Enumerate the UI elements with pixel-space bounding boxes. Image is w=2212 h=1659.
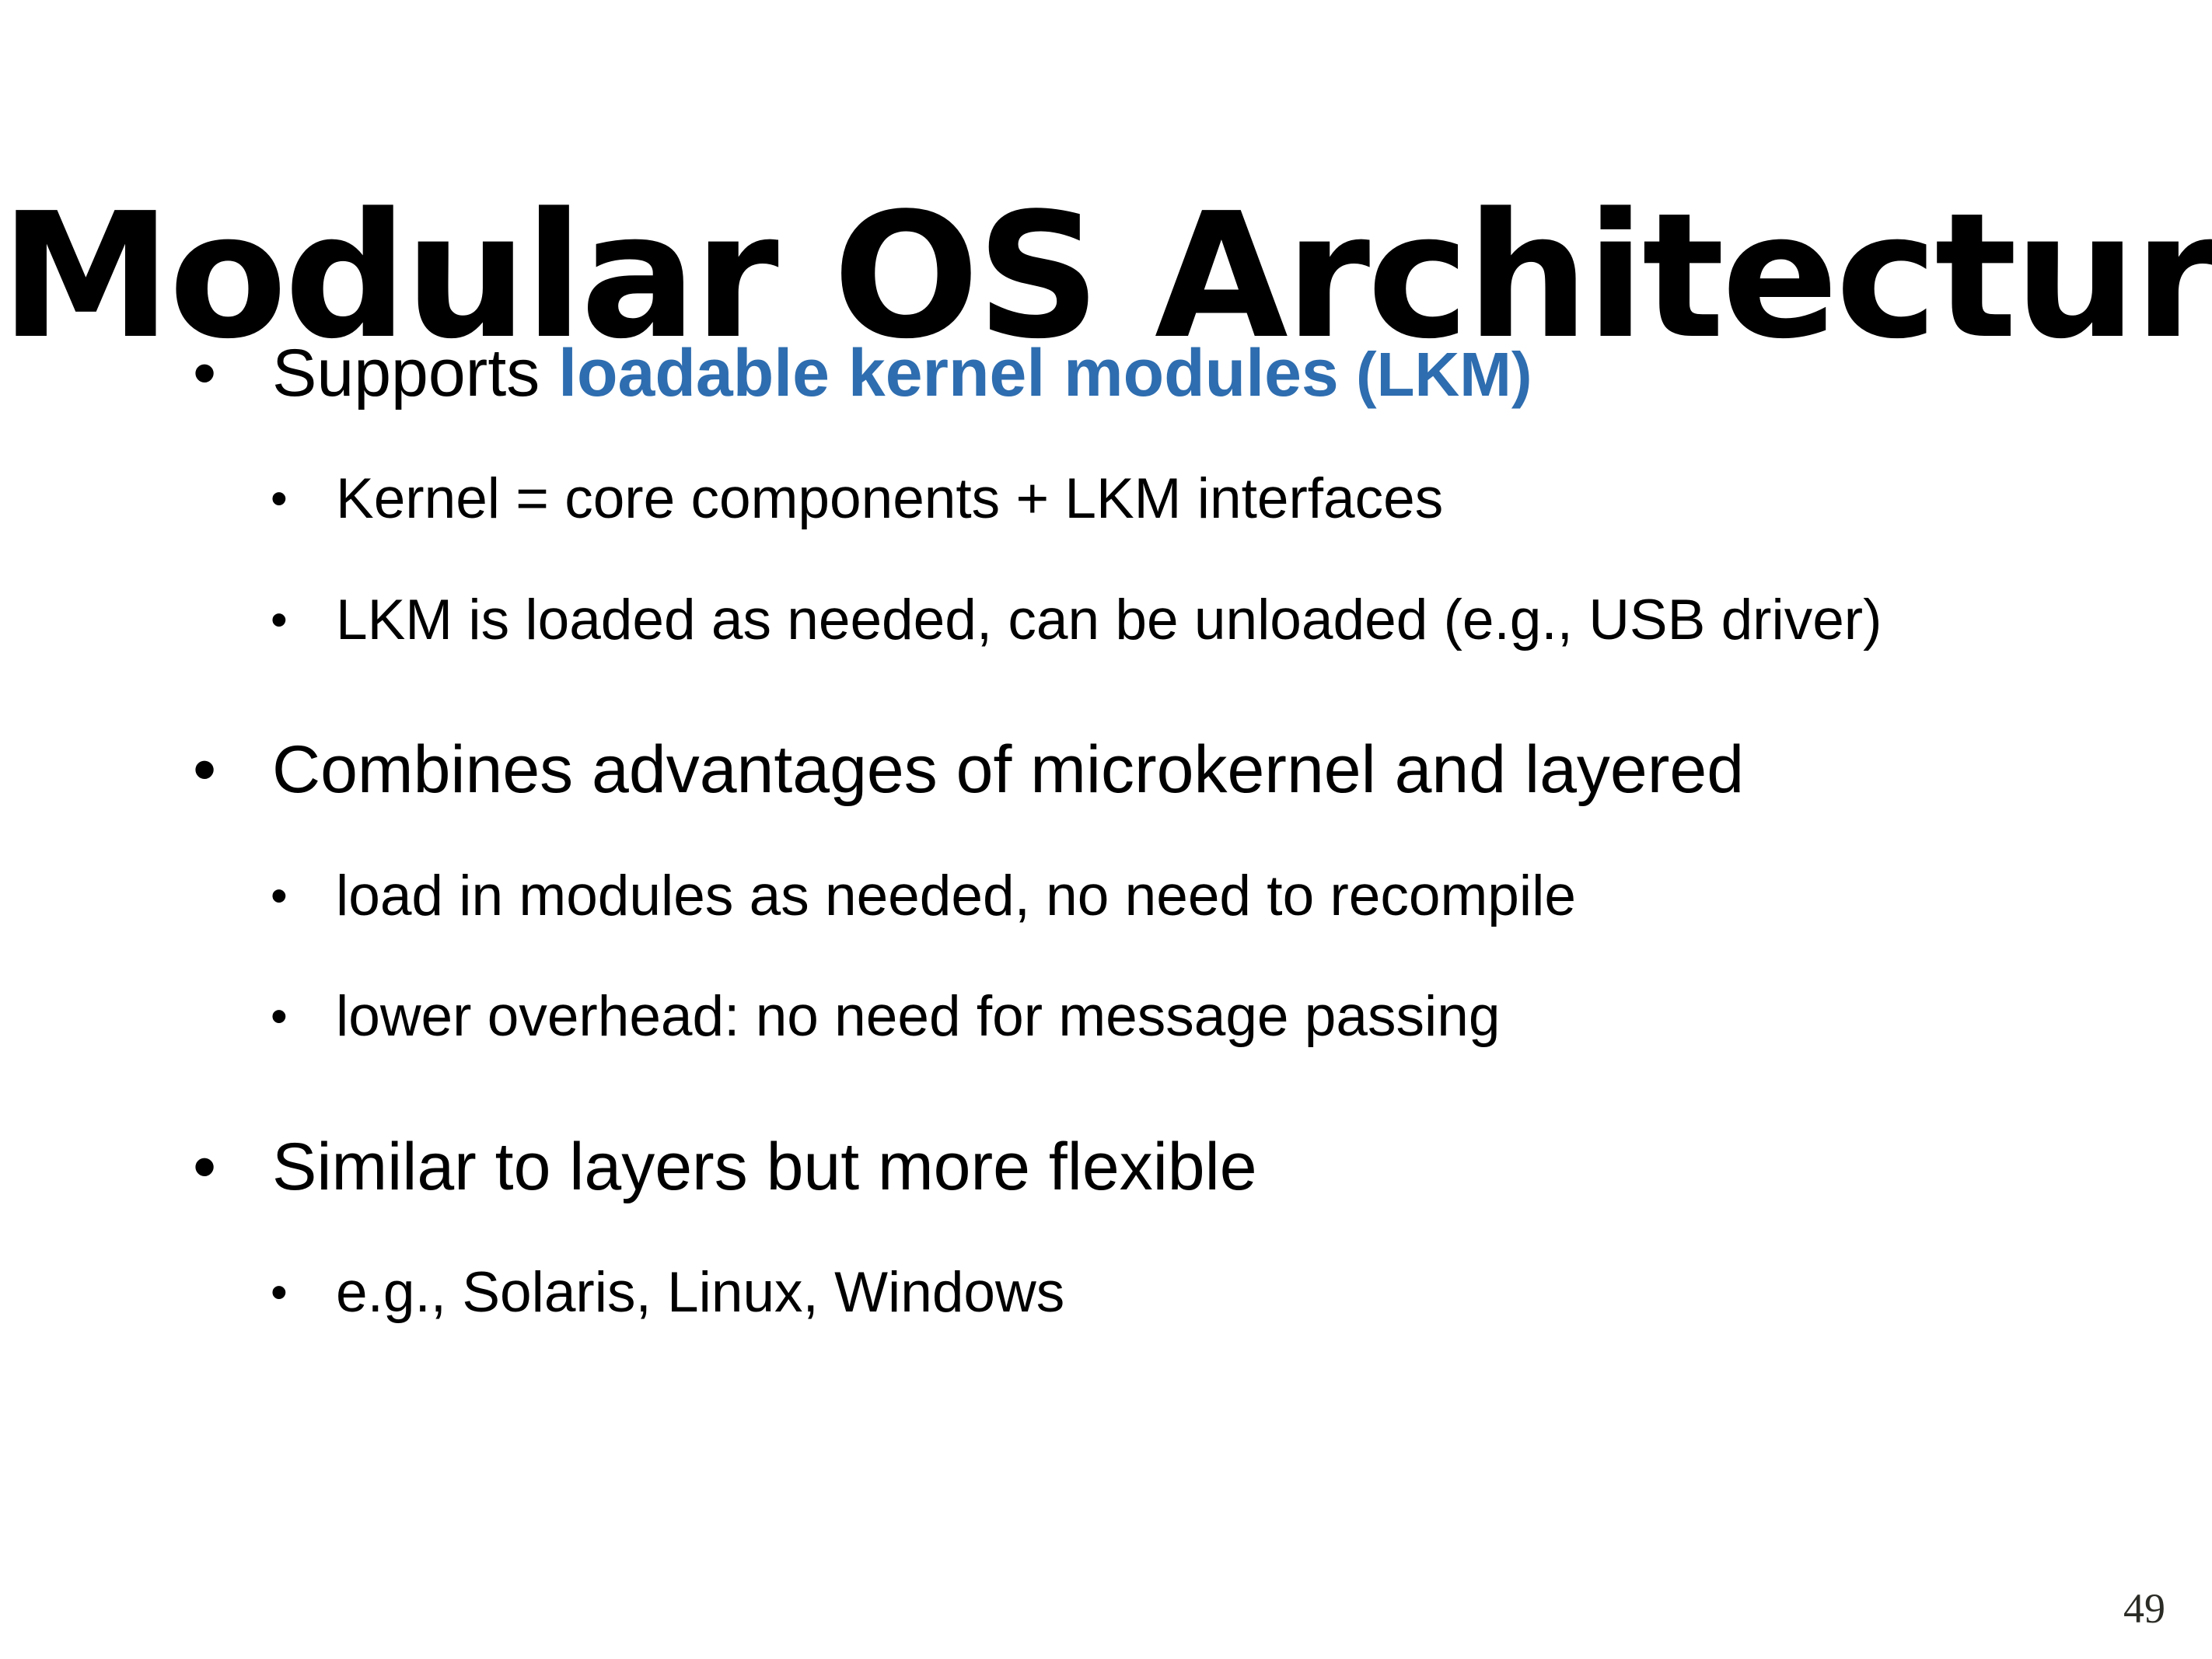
bullet-marker-icon: • [271, 463, 302, 535]
bullet-marker-icon: • [271, 1256, 302, 1329]
bullet-label: Similar to layers but more flexible [272, 1130, 1257, 1204]
bullet-item-similar-to-layers: • Similar to layers but more flexible [0, 1128, 2212, 1207]
bullet-marker-icon: • [193, 731, 227, 809]
sub-bullet-label: lower overhead: no need for message pass… [336, 985, 1500, 1048]
bullet-marker-icon: • [193, 1128, 227, 1207]
bullet-item-combines-advantages: • Combines advantages of microkernel and… [0, 731, 2212, 809]
bullet-marker-icon: • [193, 334, 227, 413]
bullet-label: Combines advantages of microkernel and l… [272, 732, 1744, 807]
bullet-list: • Supports loadable kernel modules (LKM)… [0, 334, 2212, 1378]
page-number: 49 [2123, 1587, 2165, 1629]
bullet-text-accent: loadable kernel modules [558, 336, 1339, 410]
bullet-text-accent-abbrev: (LKM) [1339, 340, 1532, 409]
bullet-item-supports-lkm: • Supports loadable kernel modules (LKM) [0, 334, 2212, 413]
sub-bullet-label: load in modules as needed, no need to re… [336, 864, 1576, 927]
sub-bullet-label: e.g., Solaris, Linux, Windows [336, 1261, 1064, 1324]
sub-bullet-lower-overhead: • lower overhead: no need for message pa… [0, 980, 2212, 1053]
slide: Modular OS Architecture • Supports loada… [0, 0, 2212, 1659]
sub-bullet-label: Kernel = core components + LKM interface… [336, 467, 1443, 530]
bullet-marker-icon: • [271, 980, 302, 1053]
bullet-marker-icon: • [271, 584, 302, 656]
bullet-marker-icon: • [271, 860, 302, 932]
sub-bullet-load-modules: • load in modules as needed, no need to … [0, 860, 2212, 932]
sub-bullet-examples: • e.g., Solaris, Linux, Windows [0, 1256, 2212, 1329]
sub-bullet-label: LKM is loaded as needed, can be unloaded… [336, 589, 1882, 651]
sub-bullet-kernel-definition: • Kernel = core components + LKM interfa… [0, 463, 2212, 535]
sub-bullet-lkm-loading: • LKM is loaded as needed, can be unload… [0, 584, 2212, 656]
bullet-text-lead: Supports [272, 336, 558, 410]
